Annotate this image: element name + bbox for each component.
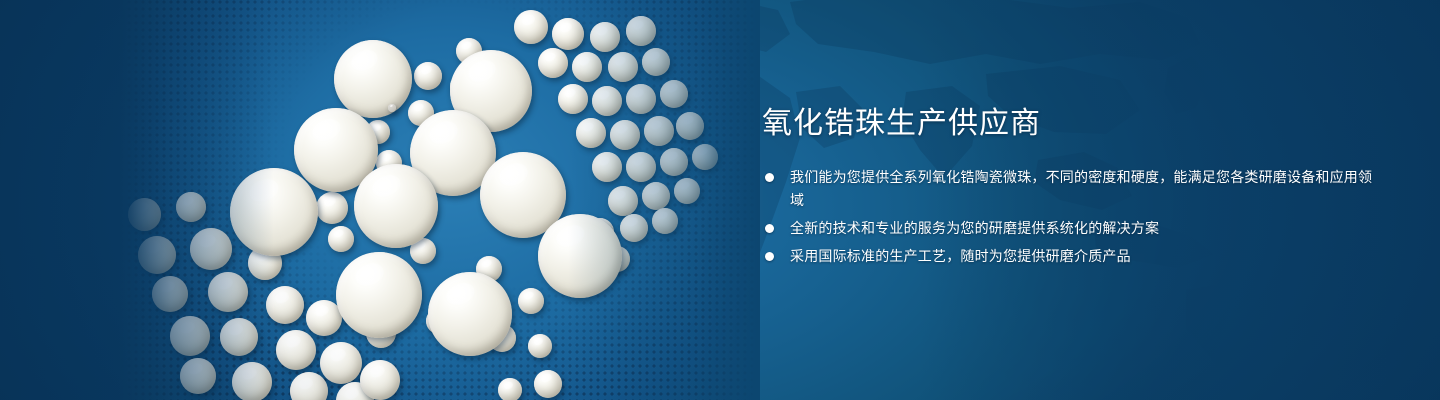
list-item: 我们能为您提供全系列氧化锆陶瓷微珠，不同的密度和硬度，能满足您各类研磨设备和应用…: [762, 166, 1382, 212]
banner-content: 氧化锆珠生产供应商 我们能为您提供全系列氧化锆陶瓷微珠，不同的密度和硬度，能满足…: [762, 104, 1382, 273]
bullet-dot-icon: [765, 173, 774, 182]
banner-headline: 氧化锆珠生产供应商: [762, 104, 1382, 144]
list-item-text: 采用国际标准的生产工艺，随时为您提供研磨介质产品: [790, 248, 1131, 264]
list-item: 全新的技术和专业的服务为您的研磨提供系统化的解决方案: [762, 217, 1382, 240]
list-item: 采用国际标准的生产工艺，随时为您提供研磨介质产品: [762, 245, 1382, 268]
list-item-text: 我们能为您提供全系列氧化锆陶瓷微珠，不同的密度和硬度，能满足您各类研磨设备和应用…: [790, 169, 1372, 208]
bullet-dot-icon: [765, 224, 774, 233]
hero-banner: 氧化锆珠生产供应商 我们能为您提供全系列氧化锆陶瓷微珠，不同的密度和硬度，能满足…: [0, 0, 1440, 400]
benefits-list: 我们能为您提供全系列氧化锆陶瓷微珠，不同的密度和硬度，能满足您各类研磨设备和应用…: [762, 166, 1382, 268]
bullet-dot-icon: [765, 252, 774, 261]
list-item-text: 全新的技术和专业的服务为您的研磨提供系统化的解决方案: [790, 220, 1159, 236]
